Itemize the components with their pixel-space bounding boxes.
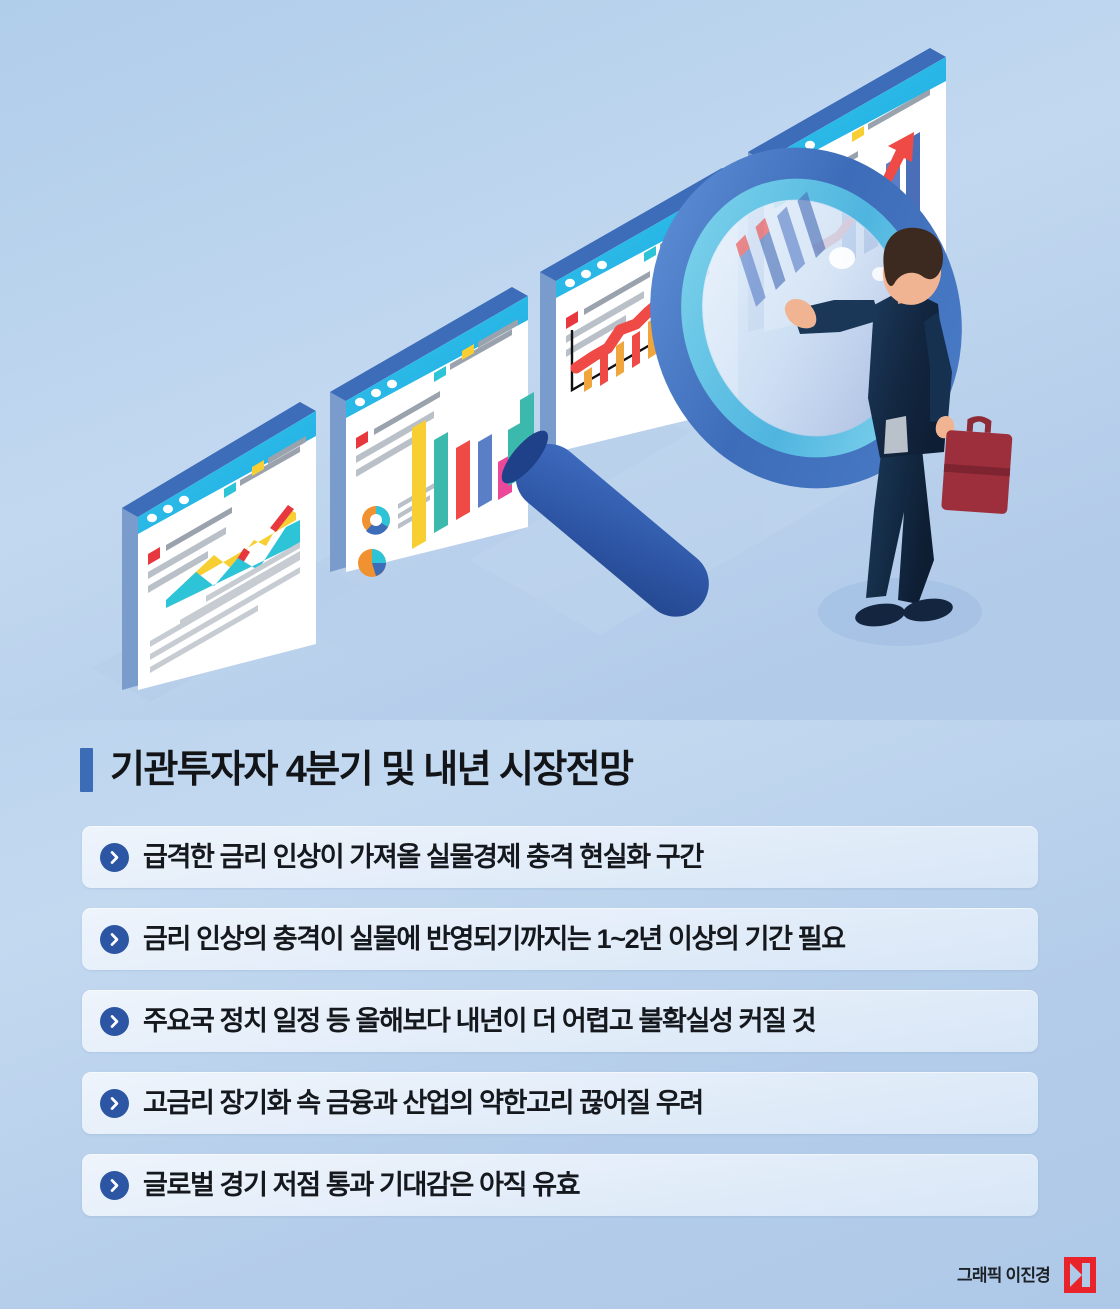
list-item-label: 주요국 정치 일정 등 올해보다 내년이 더 어렵고 불확실성 커질 것 — [143, 1008, 815, 1035]
list-item: 주요국 정치 일정 등 올해보다 내년이 더 어렵고 불확실성 커질 것 — [82, 990, 1038, 1052]
hero-illustration — [0, 0, 1120, 720]
newspaper-mark-logo — [1062, 1255, 1098, 1295]
headline: 기관투자자 4분기 및 내년 시장전망 — [80, 742, 632, 798]
list-item-label: 고금리 장기화 속 금융과 산업의 약한고리 끊어질 우려 — [143, 1090, 703, 1117]
page-title: 기관투자자 4분기 및 내년 시장전망 — [110, 751, 632, 789]
list-item-label: 급격한 금리 인상이 가져올 실물경제 충격 현실화 구간 — [143, 844, 703, 871]
credit: 그래픽 이진경 — [957, 1255, 1098, 1295]
chevron-right-circle-icon — [100, 1007, 129, 1036]
chevron-right-circle-icon — [100, 843, 129, 872]
donut-chart-2 — [358, 549, 386, 577]
credit-label: 그래픽 이진경 — [957, 1267, 1050, 1284]
list-item: 금리 인상의 충격이 실물에 반영되기까지는 1~2년 이상의 기간 필요 — [82, 908, 1038, 970]
list-item: 급격한 금리 인상이 가져올 실물경제 충격 현실화 구간 — [82, 826, 1038, 888]
list-item-label: 글로벌 경기 저점 통과 기대감은 아직 유효 — [143, 1172, 579, 1199]
bullet-list: 급격한 금리 인상이 가져올 실물경제 충격 현실화 구간 금리 인상의 충격이… — [82, 826, 1038, 1216]
list-item: 고금리 장기화 속 금융과 산업의 약한고리 끊어질 우려 — [82, 1072, 1038, 1134]
chevron-right-circle-icon — [100, 1171, 129, 1200]
chevron-right-circle-icon — [100, 1089, 129, 1118]
list-item: 글로벌 경기 저점 통과 기대감은 아직 유효 — [82, 1154, 1038, 1216]
headline-accent-bar — [80, 748, 93, 792]
infographic-poster: 기관투자자 4분기 및 내년 시장전망 급격한 금리 인상이 가져올 실물경제 … — [0, 0, 1120, 1309]
chevron-right-circle-icon — [100, 925, 129, 954]
list-item-label: 금리 인상의 충격이 실물에 반영되기까지는 1~2년 이상의 기간 필요 — [143, 926, 845, 953]
